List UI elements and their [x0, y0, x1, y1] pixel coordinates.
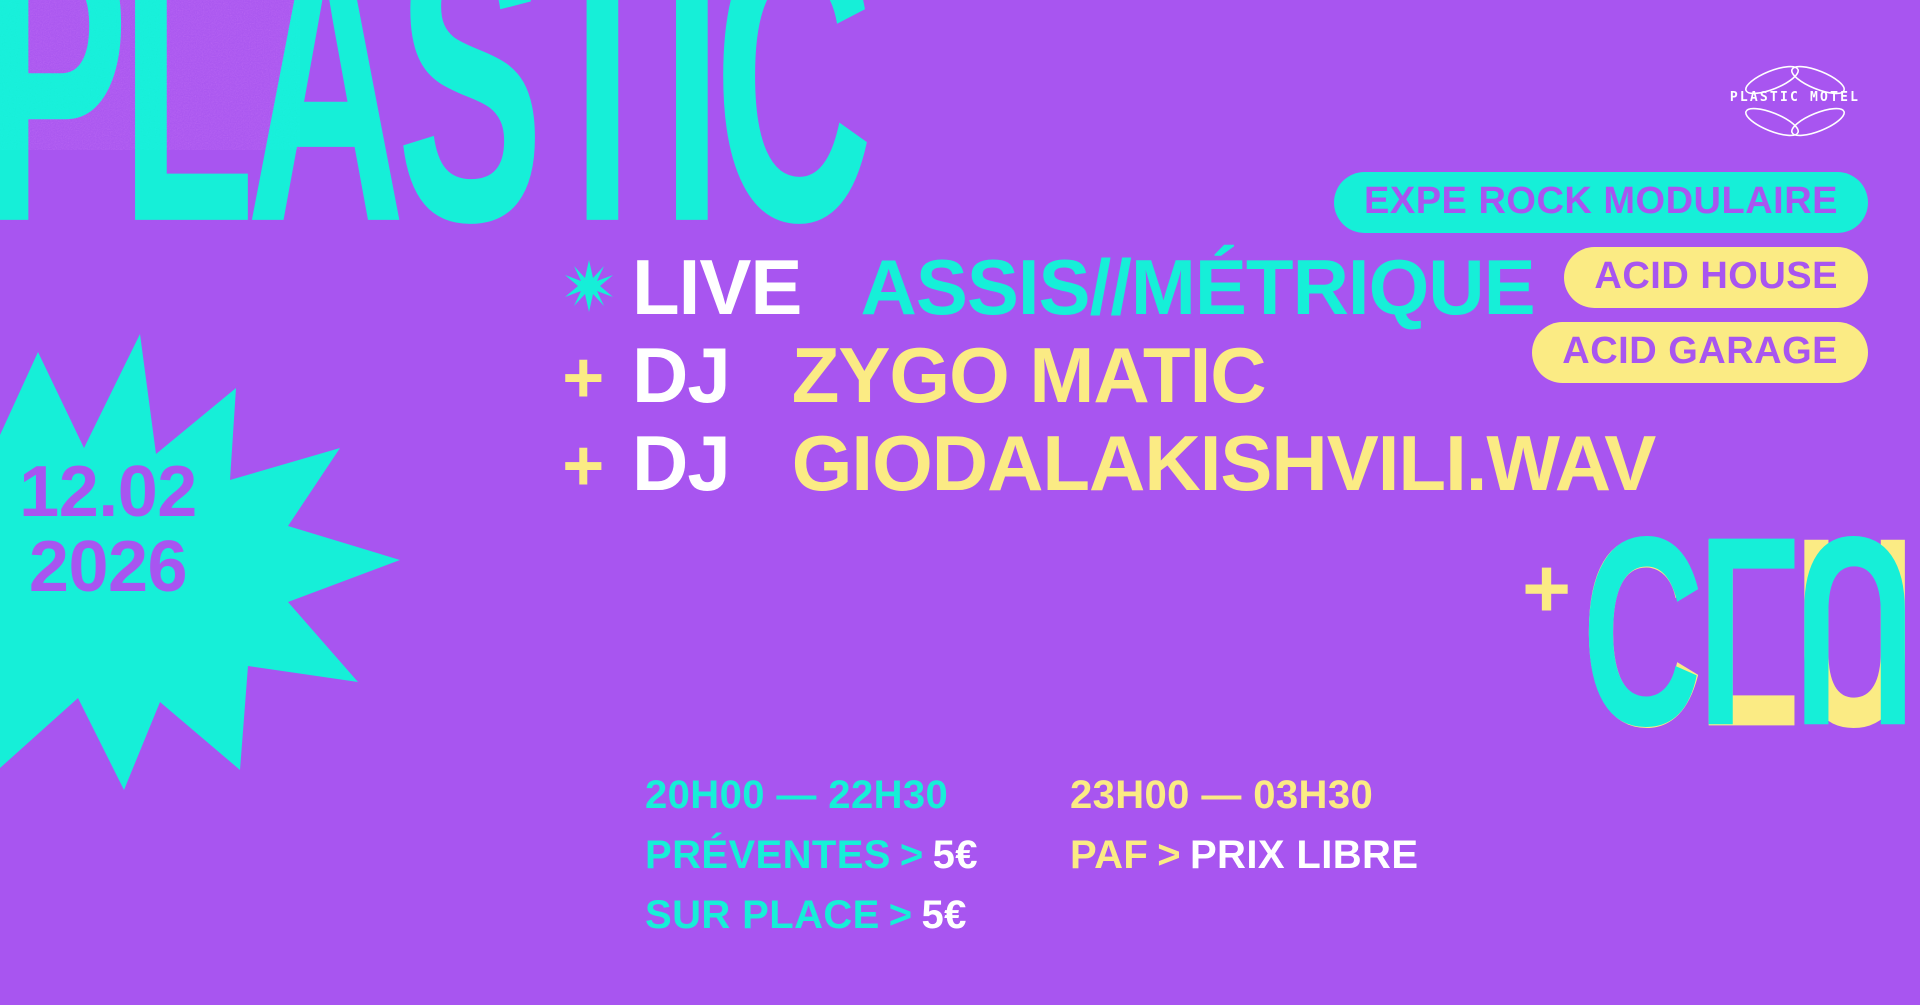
early-time-range: 20H00 — 22H30 — [645, 775, 978, 815]
lineup-act-1: LIVE ASSIS//MÉTRIQUE — [632, 248, 1535, 326]
plastic-wordmark: PLASTIC — [0, 0, 865, 283]
lineup-row-zygo-matic: + DJ ZYGO MATIC — [560, 336, 1655, 414]
early-door-label: SUR PLACE — [645, 895, 880, 935]
early-presale-sep: > — [900, 835, 924, 875]
info-block: 20H00 — 22H30 PRÉVENTES > 5€ SUR PLACE >… — [645, 775, 1418, 935]
club-paf-label: PAF — [1070, 835, 1148, 875]
early-presale-label: PRÉVENTES — [645, 835, 891, 875]
lineup-row-assis-metrique: LIVE ASSIS//MÉTRIQUE — [560, 248, 1655, 326]
plastic-motel-logo-text: PLASTIC MOTEL — [1700, 90, 1890, 105]
genre-pill-expe-rock-modulaire[interactable]: EXPE ROCK MODULAIRE — [1334, 172, 1868, 233]
early-presale-row: PRÉVENTES > 5€ — [645, 835, 978, 875]
early-presale-price: 5€ — [933, 835, 978, 875]
early-door-sep: > — [889, 895, 913, 935]
club-plus-icon: + — [1522, 546, 1571, 630]
club-wordmark-block: + CLUB CLUB — [1582, 528, 1920, 676]
club-wordmark-mirror: CLUB — [1582, 526, 1920, 736]
info-column-club: 23H00 — 03H30 PAF > PRIX LIBRE — [1070, 775, 1418, 935]
club-paf-price: PRIX LIBRE — [1190, 835, 1418, 875]
event-date-year: 2026 — [0, 530, 328, 605]
early-door-price: 5€ — [922, 895, 967, 935]
event-date: 12.02 2026 — [0, 455, 328, 605]
plus-icon-1: + — [560, 342, 606, 414]
club-time-range: 23H00 — 03H30 — [1070, 775, 1418, 815]
plus-icon-2: + — [560, 430, 606, 502]
event-poster: PLASTIC PLASTIC MOTEL EXPE ROCK MODULAIR… — [0, 0, 1920, 1005]
lineup-role-3: DJ — [632, 419, 730, 507]
info-column-early: 20H00 — 22H30 PRÉVENTES > 5€ SUR PLACE >… — [645, 775, 978, 935]
club-paf-sep: > — [1157, 835, 1181, 875]
early-door-row: SUR PLACE > 5€ — [645, 895, 978, 935]
lineup-role-1: LIVE — [632, 243, 801, 331]
lineup-act-3: DJ GIODALAKISHVILI.WAV — [632, 424, 1655, 502]
club-paf-row: PAF > PRIX LIBRE — [1070, 835, 1418, 875]
lineup-artist-1: ASSIS//MÉTRIQUE — [861, 243, 1535, 331]
event-date-day-month: 12.02 — [0, 455, 328, 530]
lineup-act-2: DJ ZYGO MATIC — [632, 336, 1266, 414]
plastic-motel-logo: PLASTIC MOTEL — [1700, 50, 1890, 150]
lineup-artist-2: ZYGO MATIC — [792, 331, 1266, 419]
lineup-artist-3: GIODALAKISHVILI.WAV — [792, 419, 1656, 507]
lineup-row-giodalakishvili: + DJ GIODALAKISHVILI.WAV — [560, 424, 1655, 502]
lineup-list: LIVE ASSIS//MÉTRIQUE + DJ ZYGO MATIC + D… — [560, 248, 1655, 512]
lineup-role-2: DJ — [632, 331, 730, 419]
